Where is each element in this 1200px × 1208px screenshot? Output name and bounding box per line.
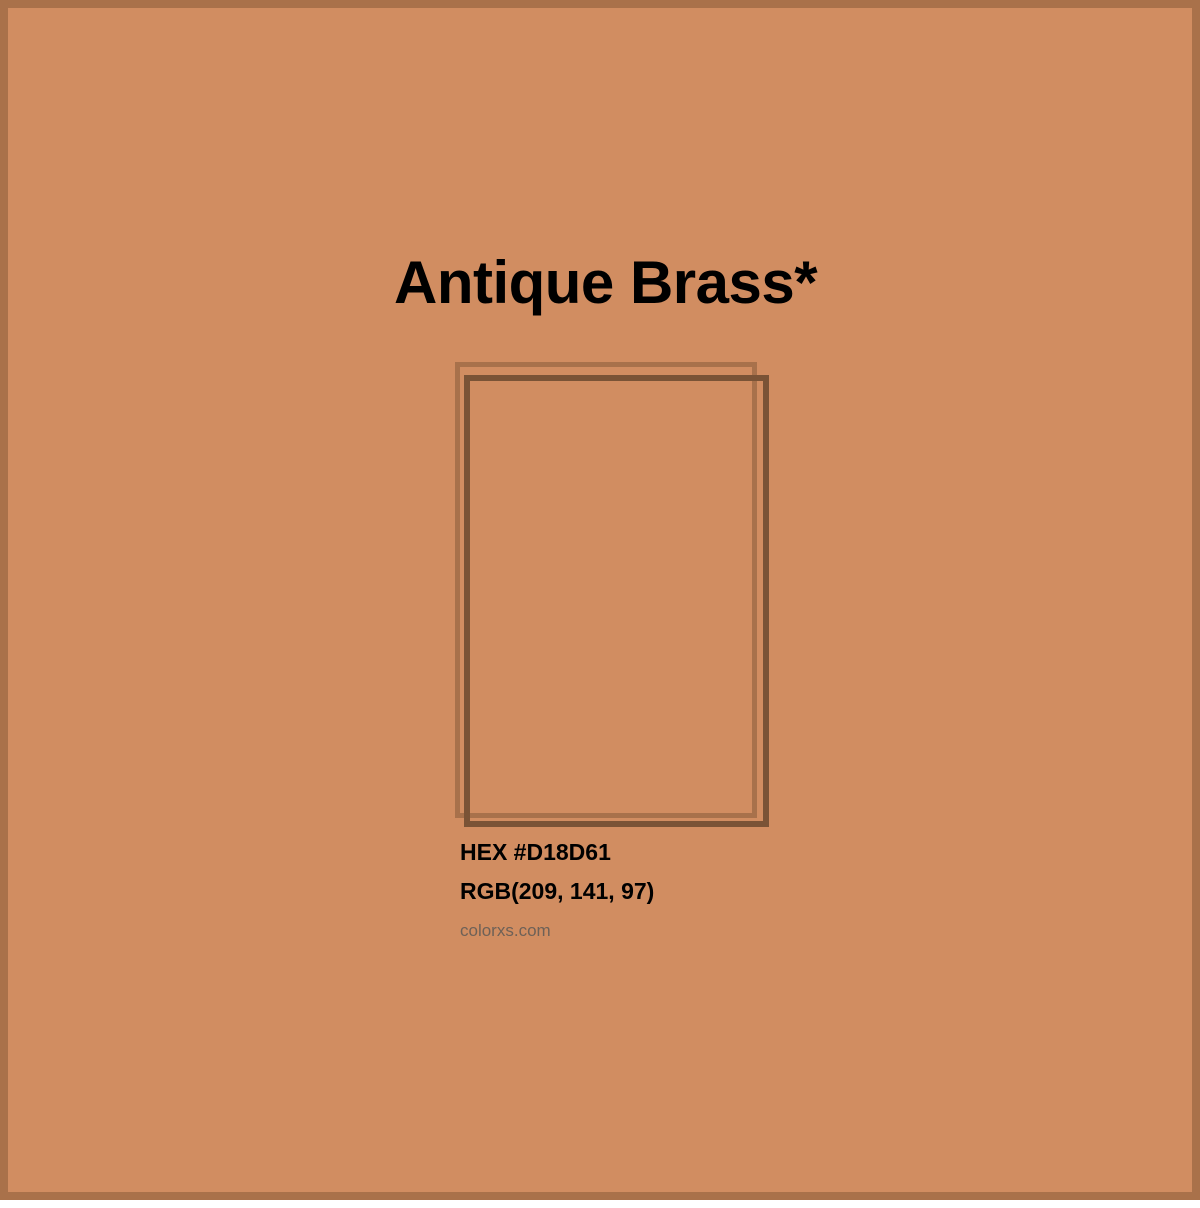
page-title: Antique Brass* — [394, 251, 817, 314]
hex-value: HEX #D18D61 — [460, 841, 654, 864]
frame-outline-dark — [464, 375, 769, 827]
color-swatch-card: Antique Brass* HEX #D18D61 RGB(209, 141,… — [0, 0, 1200, 1200]
source-watermark: colorxs.com — [460, 922, 654, 939]
frame-outline-light — [455, 362, 757, 818]
decorative-double-frame — [8, 8, 1200, 1208]
rgb-value: RGB(209, 141, 97) — [460, 880, 654, 903]
color-value-block: HEX #D18D61 RGB(209, 141, 97) colorxs.co… — [460, 841, 654, 939]
